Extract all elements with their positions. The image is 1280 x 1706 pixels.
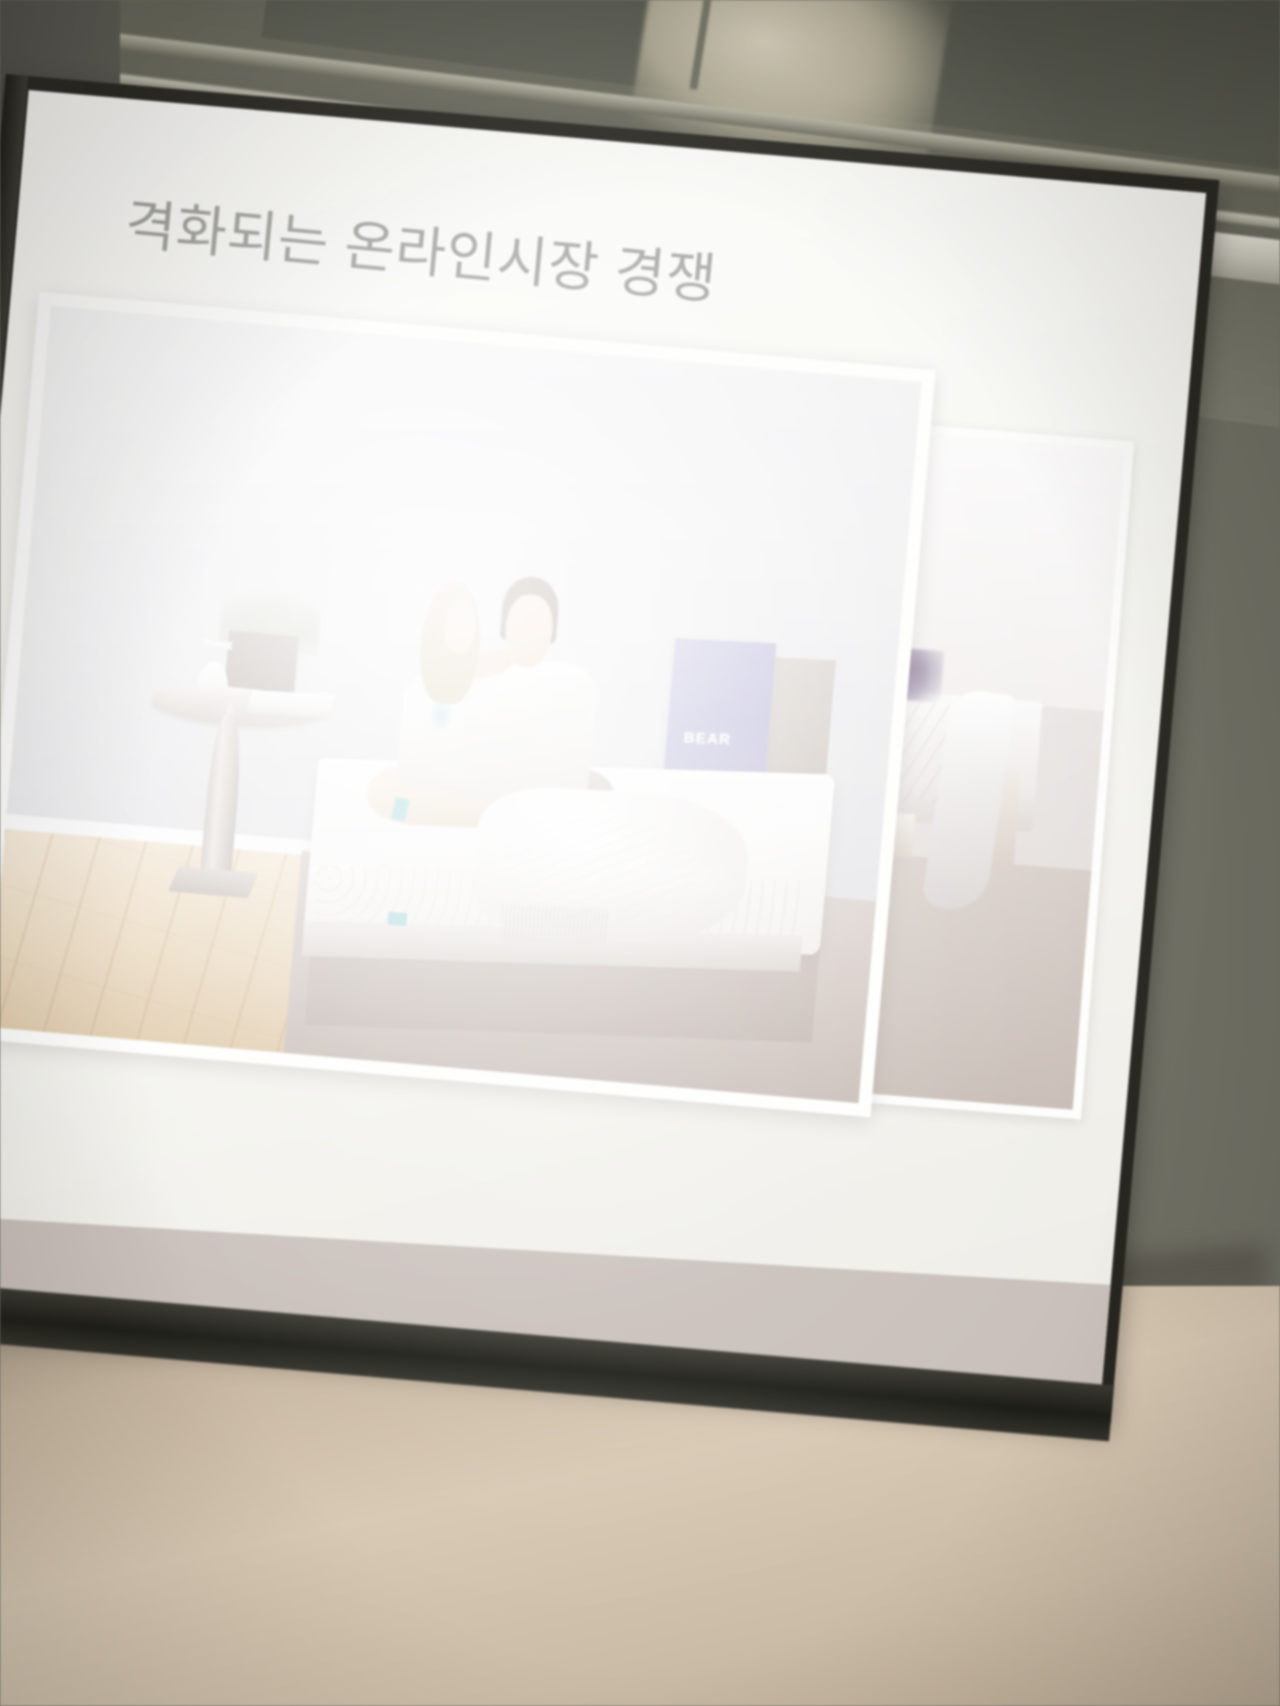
slide-title: 격화되는 온라인시장 경쟁 bbox=[122, 179, 721, 315]
room-scene: 격화되는 온라인시장 경쟁 bbox=[0, 0, 1280, 1706]
shirt-graphic bbox=[429, 699, 454, 731]
presentation-slide: 격화되는 온라인시장 경쟁 bbox=[0, 90, 1206, 1386]
bear-box-label: BEAR bbox=[683, 729, 732, 748]
main-photo-image: BEAR bbox=[0, 306, 922, 1103]
throw-blanket-fringe bbox=[501, 904, 607, 944]
projector-screen: 격화되는 온라인시장 경쟁 bbox=[0, 74, 1269, 1470]
main-photo: BEAR bbox=[0, 292, 936, 1118]
mattress-tag bbox=[387, 912, 407, 927]
